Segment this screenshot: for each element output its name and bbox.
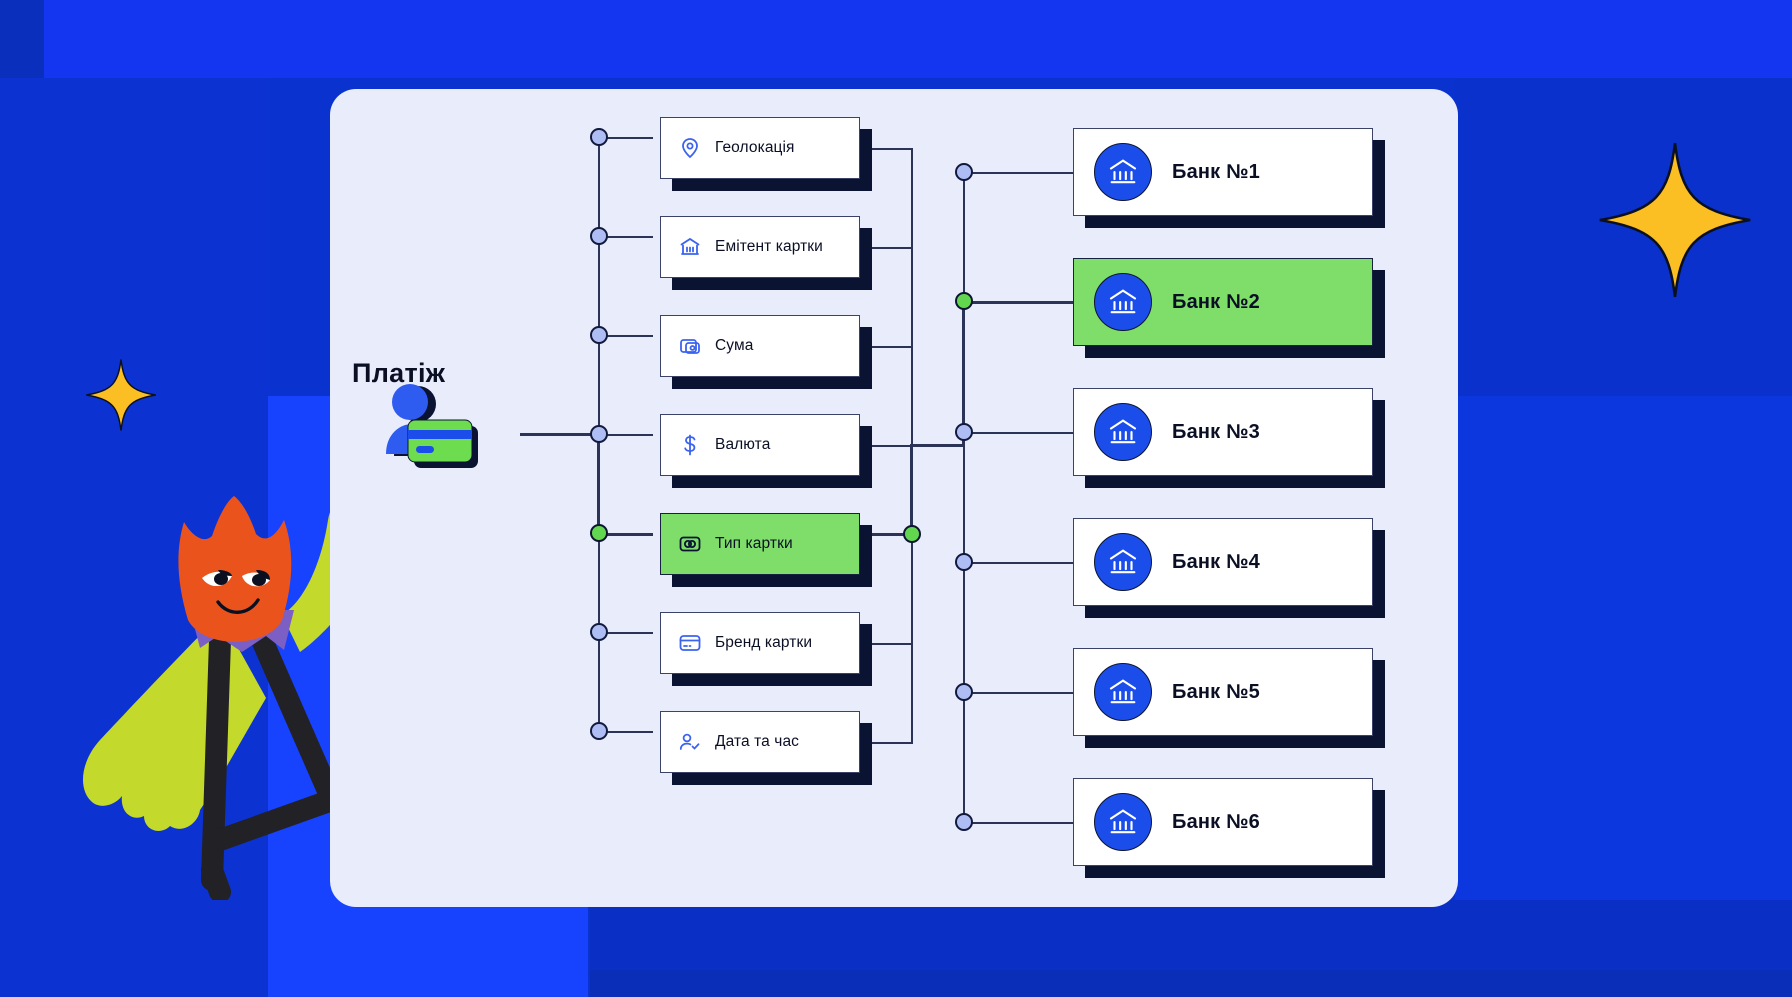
bank-card-5[interactable]: Банк №5: [1073, 648, 1373, 736]
out-attr-4: [860, 445, 913, 447]
collector-to-bankbus-green: [910, 444, 965, 447]
attribute-card-card-brand[interactable]: Бренд картки: [660, 612, 860, 674]
star-large-right: [1590, 140, 1760, 305]
bank-icon: [1094, 663, 1152, 721]
node-attr-5[interactable]: [590, 524, 608, 542]
out-attr-3: [860, 346, 913, 348]
stub-bank-5: [963, 692, 1073, 694]
bank-label: Банк №5: [1172, 681, 1260, 704]
user-with-card-icon: [372, 382, 482, 472]
bank-card-2[interactable]: Банк №2: [1073, 258, 1373, 346]
bank-building-icon: [677, 234, 703, 260]
calendar-check-icon: [677, 729, 703, 755]
attribute-card-currency[interactable]: Валюта: [660, 414, 860, 476]
bank-label: Банк №6: [1172, 811, 1260, 834]
wallet-icon: [677, 333, 703, 359]
attribute-label: Валюта: [715, 436, 770, 454]
node-bank-1[interactable]: [955, 163, 973, 181]
bank-label: Банк №1: [1172, 161, 1260, 184]
stub-bank-1: [963, 172, 1073, 174]
background-right-lower: [1455, 396, 1792, 900]
bank-icon: [1094, 793, 1152, 851]
background-top-strip: [0, 0, 1792, 78]
attribute-label: Тип картки: [715, 535, 793, 553]
node-bank-2[interactable]: [955, 292, 973, 310]
node-attr-1[interactable]: [590, 128, 608, 146]
out-attr-5-green: [860, 533, 906, 536]
attribute-card-issuer[interactable]: Емітент картки: [660, 216, 860, 278]
node-attr-4[interactable]: [590, 425, 608, 443]
bank-icon: [1094, 273, 1152, 331]
node-attr-6[interactable]: [590, 623, 608, 641]
credit-card-icon: [677, 630, 703, 656]
bank-card-3[interactable]: Банк №3: [1073, 388, 1373, 476]
background-bottom-strip: [590, 970, 1792, 997]
attribute-card-datetime[interactable]: Дата та час: [660, 711, 860, 773]
attribute-bus-green: [597, 434, 600, 535]
attribute-label: Емітент картки: [715, 238, 823, 256]
attribute-label: Бренд картки: [715, 634, 812, 652]
stub-bank-6: [963, 822, 1073, 824]
stub-bank-3: [963, 432, 1073, 434]
out-attr-6: [860, 643, 913, 645]
star-small-left: [82, 358, 160, 437]
bank-card-1[interactable]: Банк №1: [1073, 128, 1373, 216]
node-collector-selected[interactable]: [903, 525, 921, 543]
attribute-card-geolocation[interactable]: Геолокація: [660, 117, 860, 179]
attribute-label: Сума: [715, 337, 753, 355]
root-to-bus-green: [520, 433, 600, 436]
bank-card-6[interactable]: Банк №6: [1073, 778, 1373, 866]
node-attr-2[interactable]: [590, 227, 608, 245]
collector-green: [910, 444, 913, 535]
stub-bank-2-green: [962, 301, 1074, 304]
screenshot-root: Платіж: [0, 0, 1792, 997]
node-bank-4[interactable]: [955, 553, 973, 571]
card-type-icon: [677, 531, 703, 557]
out-attr-7: [860, 742, 913, 744]
attribute-label: Геолокація: [715, 139, 795, 157]
node-bank-3[interactable]: [955, 423, 973, 441]
out-attr-1: [860, 148, 913, 150]
location-pin-icon: [677, 135, 703, 161]
attribute-card-card-type[interactable]: Тип картки: [660, 513, 860, 575]
bank-icon: [1094, 403, 1152, 461]
bank-bus-line: [963, 172, 965, 824]
bank-label: Банк №4: [1172, 551, 1260, 574]
stub-bank-4: [963, 562, 1073, 564]
bank-icon: [1094, 533, 1152, 591]
bank-label: Банк №2: [1172, 291, 1260, 314]
attribute-label: Дата та час: [715, 733, 799, 751]
out-attr-2: [860, 247, 913, 249]
node-attr-3[interactable]: [590, 326, 608, 344]
attribute-card-amount[interactable]: Сума: [660, 315, 860, 377]
bank-label: Банк №3: [1172, 421, 1260, 444]
node-bank-6[interactable]: [955, 813, 973, 831]
dollar-sign-icon: [677, 432, 703, 458]
node-bank-5[interactable]: [955, 683, 973, 701]
bank-icon: [1094, 143, 1152, 201]
bank-card-4[interactable]: Банк №4: [1073, 518, 1373, 606]
background-top-left: [0, 0, 44, 78]
node-attr-7[interactable]: [590, 722, 608, 740]
